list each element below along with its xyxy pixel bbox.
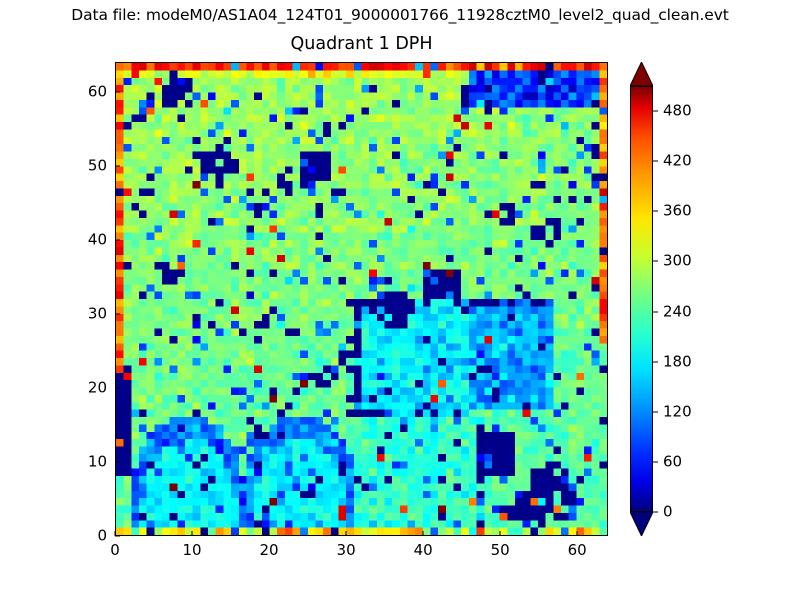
x-tick-label: 0 xyxy=(110,536,120,558)
colorbar-tick-label: 240 xyxy=(653,304,692,319)
colorbar-tick-label: 60 xyxy=(653,454,682,469)
colorbar-tick-label: 360 xyxy=(653,204,692,219)
y-tick-label: 0 xyxy=(97,529,115,544)
colorbar-tick-mark xyxy=(653,512,658,513)
colorbar-tick-mark xyxy=(653,261,658,262)
y-tick-label: 40 xyxy=(88,232,115,247)
y-tick-label: 60 xyxy=(88,84,115,99)
data-file-label: Data file: modeM0/AS1A04_124T01_90000017… xyxy=(0,6,800,25)
x-tick-label: 60 xyxy=(568,536,587,558)
colorbar-tick-mark xyxy=(653,111,658,112)
colorbar[interactable]: 060120180240300360420480 xyxy=(630,62,653,536)
colorbar-tick-label: 480 xyxy=(653,104,692,119)
colorbar-tick-label: 120 xyxy=(653,404,692,419)
y-tick-label: 20 xyxy=(88,380,115,395)
y-tick-label: 50 xyxy=(88,158,115,173)
detector-plane-histogram[interactable] xyxy=(116,63,607,535)
colorbar-extend-down-icon xyxy=(630,512,653,536)
colorbar-tick-mark xyxy=(653,161,658,162)
colorbar-tick-mark xyxy=(653,211,658,212)
colorbar-tick-label: 420 xyxy=(653,154,692,169)
page-title: Quadrant 1 DPH xyxy=(115,33,608,55)
colorbar-gradient xyxy=(630,86,653,512)
x-tick-label: 40 xyxy=(414,536,433,558)
colorbar-tick-mark xyxy=(653,311,658,312)
colorbar-tick-label: 0 xyxy=(653,505,673,520)
figure-canvas: Data file: modeM0/AS1A04_124T01_90000017… xyxy=(0,0,800,600)
colorbar-tick-mark xyxy=(653,461,658,462)
x-tick-label: 10 xyxy=(182,536,201,558)
colorbar-tick-label: 300 xyxy=(653,254,692,269)
colorbar-tick-label: 180 xyxy=(653,354,692,369)
colorbar-extend-up-icon xyxy=(630,62,653,86)
y-tick-label: 10 xyxy=(88,454,115,469)
heatmap-axes[interactable] xyxy=(115,62,608,536)
x-tick-label: 20 xyxy=(260,536,279,558)
x-tick-label: 50 xyxy=(491,536,510,558)
y-tick-label: 30 xyxy=(88,306,115,321)
x-tick-label: 30 xyxy=(337,536,356,558)
colorbar-tick-mark xyxy=(653,361,658,362)
colorbar-tick-mark xyxy=(653,411,658,412)
